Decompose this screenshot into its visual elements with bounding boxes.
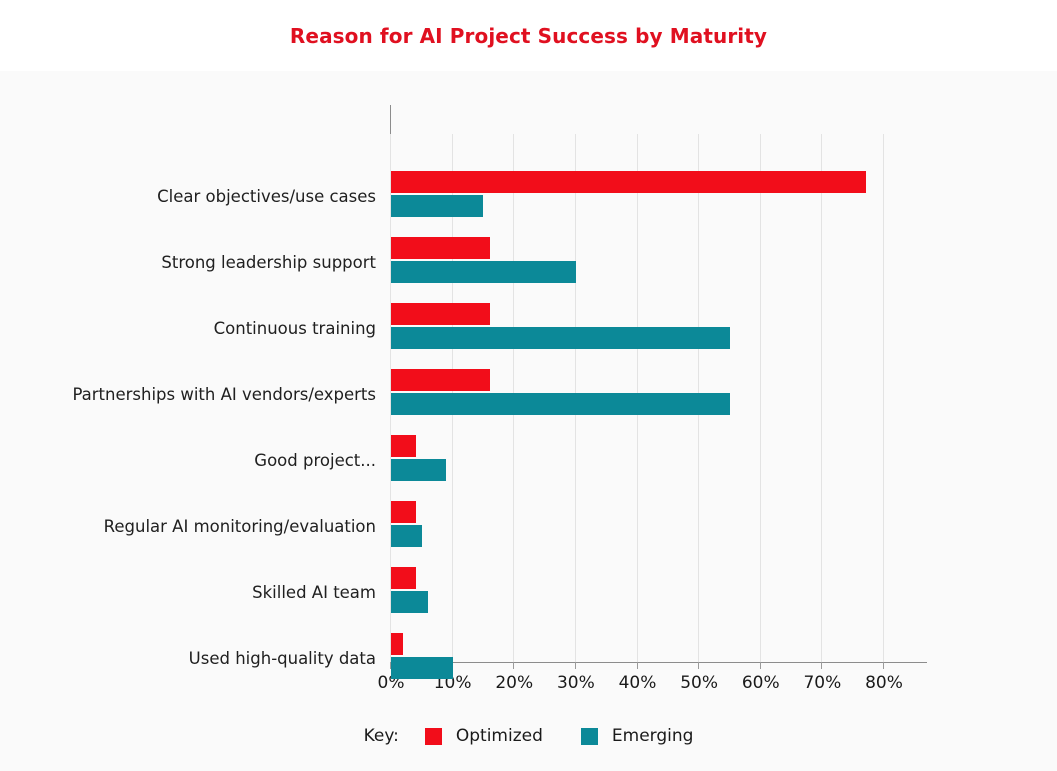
gridline — [821, 134, 822, 662]
legend-label-optimized: Optimized — [456, 726, 543, 746]
category-label: Good project... — [254, 453, 376, 470]
bar-optimized[interactable] — [391, 303, 490, 325]
category-label: Regular AI monitoring/evaluation — [104, 519, 376, 536]
category-label: Skilled AI team — [252, 585, 376, 602]
bar-emerging[interactable] — [391, 657, 453, 679]
bar-optimized[interactable] — [391, 567, 416, 589]
x-axis-tick — [760, 662, 761, 669]
x-axis-tick-label: 20% — [495, 673, 533, 693]
bar-optimized[interactable] — [391, 369, 490, 391]
legend-entry-emerging[interactable]: Emerging — [581, 726, 694, 746]
category-label: Strong leadership support — [161, 255, 376, 272]
x-axis-tick-label: 80% — [865, 673, 903, 693]
x-axis-tick — [698, 662, 699, 669]
legend-label-emerging: Emerging — [612, 726, 694, 746]
bar-emerging[interactable] — [391, 393, 730, 415]
x-axis-tick — [575, 662, 576, 669]
bar-optimized[interactable] — [391, 237, 490, 259]
x-axis-tick-label: 60% — [742, 673, 780, 693]
x-axis-tick-label: 50% — [680, 673, 718, 693]
chart-panel: Clear objectives/use casesStrong leaders… — [0, 71, 1057, 771]
x-axis-tick — [883, 662, 884, 669]
x-axis-tick — [637, 662, 638, 669]
category-label: Used high-quality data — [189, 651, 376, 668]
bar-emerging[interactable] — [391, 327, 730, 349]
bar-emerging[interactable] — [391, 525, 422, 547]
title-band: Reason for AI Project Success by Maturit… — [0, 0, 1057, 71]
bar-optimized[interactable] — [391, 435, 416, 457]
bar-emerging[interactable] — [391, 459, 446, 481]
category-axis-labels: Clear objectives/use casesStrong leaders… — [0, 71, 376, 771]
bar-optimized[interactable] — [391, 633, 403, 655]
x-axis-tick — [513, 662, 514, 669]
bar-optimized[interactable] — [391, 171, 866, 193]
category-label: Clear objectives/use cases — [157, 189, 376, 206]
bar-emerging[interactable] — [391, 195, 483, 217]
legend-entry-optimized[interactable]: Optimized — [425, 726, 543, 746]
category-label: Continuous training — [214, 321, 376, 338]
legend-swatch-optimized-icon — [425, 728, 442, 745]
x-axis-tick-label: 70% — [803, 673, 841, 693]
bar-emerging[interactable] — [391, 591, 428, 613]
legend-key-label: Key: — [364, 726, 399, 746]
category-label: Partnerships with AI vendors/experts — [72, 387, 376, 404]
x-axis-tick-label: 40% — [619, 673, 657, 693]
legend-swatch-emerging-icon — [581, 728, 598, 745]
bar-optimized[interactable] — [391, 501, 416, 523]
chart-legend: Key: Optimized Emerging — [0, 726, 1057, 746]
gridline — [760, 134, 761, 662]
x-axis-tick — [821, 662, 822, 669]
bar-emerging[interactable] — [391, 261, 576, 283]
chart-page: Reason for AI Project Success by Maturit… — [0, 0, 1057, 771]
x-axis-tick-label: 30% — [557, 673, 595, 693]
x-axis-line — [390, 662, 927, 663]
page-title: Reason for AI Project Success by Maturit… — [290, 24, 767, 48]
gridline — [883, 134, 884, 662]
